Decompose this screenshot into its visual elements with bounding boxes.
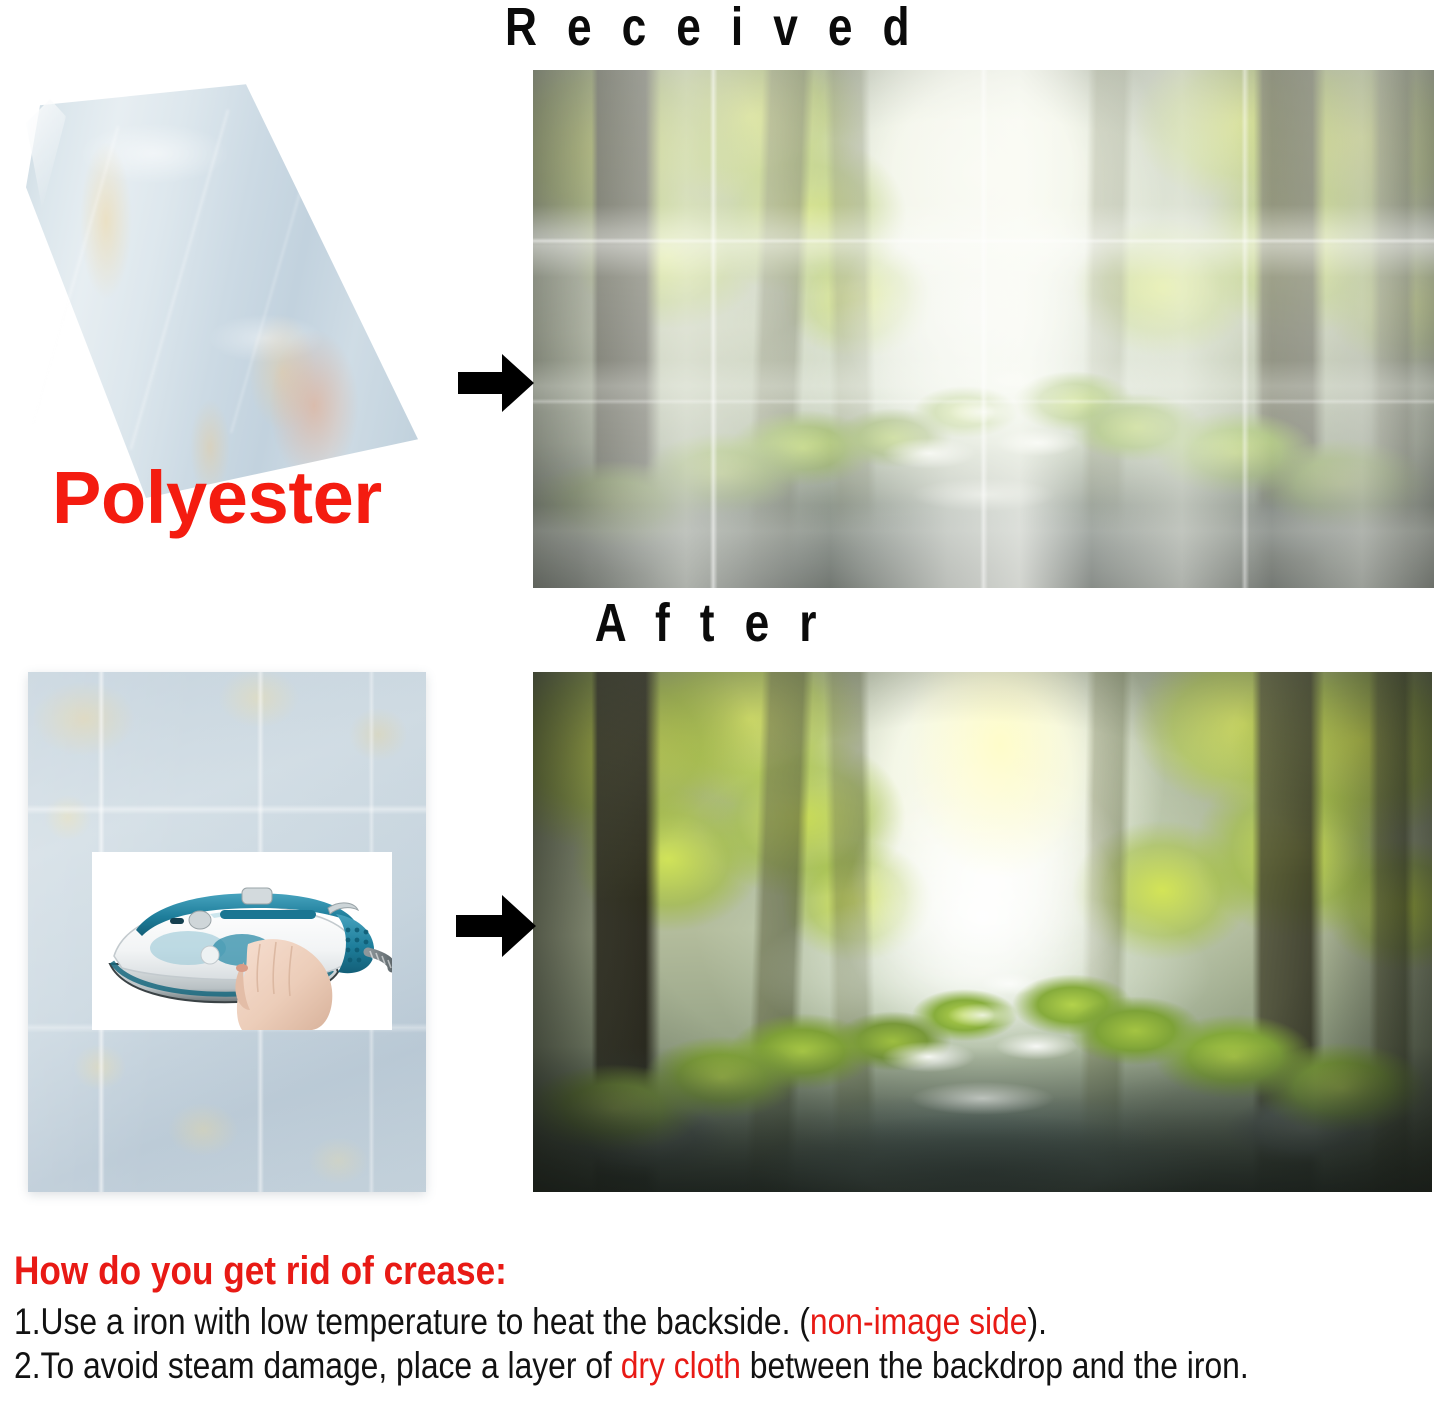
handle-groove bbox=[220, 910, 316, 919]
polyester-fabric-swatch bbox=[18, 78, 418, 498]
line2-prefix: 2.To avoid steam damage, place a layer o… bbox=[14, 1345, 621, 1386]
steam-iron-illustration bbox=[92, 852, 392, 1030]
received-heading: R e c e i v e d bbox=[505, 0, 915, 58]
received-backdrop-image bbox=[533, 70, 1434, 588]
spray-button bbox=[201, 946, 219, 964]
right-arrow-icon bbox=[456, 893, 536, 959]
instruction-line-1: 1.Use a iron with low temperature to hea… bbox=[14, 1300, 1228, 1344]
line1-suffix: ). bbox=[1027, 1301, 1046, 1342]
after-backdrop-image bbox=[533, 672, 1432, 1192]
crease-lines-layer bbox=[533, 70, 1434, 588]
crease-instructions: How do you get rid of crease: 1.Use a ir… bbox=[14, 1250, 1426, 1387]
temperature-dial bbox=[189, 911, 211, 929]
vignette-layer bbox=[533, 672, 1432, 1192]
right-arrow-icon bbox=[458, 352, 534, 414]
iron-photo-card bbox=[92, 852, 392, 1030]
polyester-label: Polyester bbox=[52, 455, 382, 540]
instruction-line-2: 2.To avoid steam damage, place a layer o… bbox=[14, 1344, 1228, 1388]
line2-suffix: between the backdrop and the iron. bbox=[741, 1345, 1249, 1386]
after-heading: A f t e r bbox=[505, 592, 915, 654]
thumb-nail bbox=[236, 964, 248, 972]
indicator-slot bbox=[170, 918, 184, 924]
instructions-heading: How do you get rid of crease: bbox=[14, 1250, 1257, 1292]
line2-highlight: dry cloth bbox=[621, 1345, 741, 1386]
line1-prefix: 1.Use a iron with low temperature to hea… bbox=[14, 1301, 810, 1342]
line1-highlight: non-image side bbox=[810, 1301, 1028, 1342]
steam-burst-button bbox=[242, 888, 272, 904]
